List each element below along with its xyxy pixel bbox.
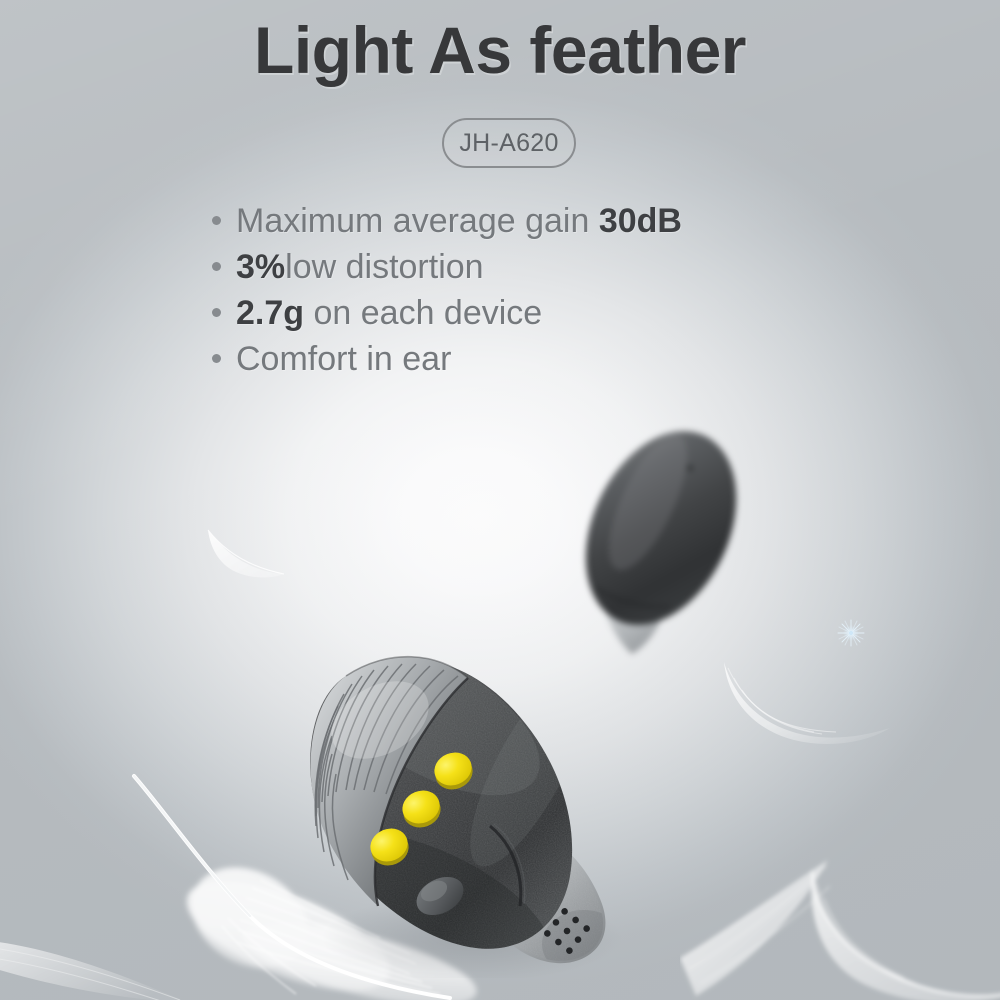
feature-emphasis: 30dB <box>599 202 682 240</box>
bullet-dot-icon <box>212 354 221 363</box>
list-item: 2.7g on each device <box>212 294 852 340</box>
feature-text: Comfort in ear <box>236 340 451 379</box>
feature-list: Maximum average gain 30dB 3%low distorti… <box>212 202 852 386</box>
earbud-back-unit <box>566 416 756 666</box>
bullet-dot-icon <box>212 216 221 225</box>
list-item: Maximum average gain 30dB <box>212 202 852 248</box>
page-title: Light As feather <box>0 12 1000 88</box>
bullet-dot-icon <box>212 262 221 271</box>
model-badge: JH-A620 <box>442 118 576 168</box>
model-badge-label: JH-A620 <box>459 129 558 158</box>
bullet-dot-icon <box>212 308 221 317</box>
sparkle-icon <box>836 618 866 648</box>
feature-suffix: low distortion <box>285 248 483 286</box>
list-item: Comfort in ear <box>212 340 852 386</box>
feature-text: 3%low distortion <box>236 248 484 287</box>
feature-emphasis: 2.7g <box>236 294 304 332</box>
feature-text: Maximum average gain 30dB <box>236 202 682 241</box>
earbud-front-unit <box>262 648 642 978</box>
feature-text: 2.7g on each device <box>236 294 542 333</box>
feature-prefix: Comfort in ear <box>236 340 451 378</box>
feature-suffix: on each device <box>304 294 542 332</box>
feature-emphasis: 3% <box>236 248 285 286</box>
list-item: 3%low distortion <box>212 248 852 294</box>
product-hero-image: Light As feather JH-A620 Maximum average… <box>0 0 1000 1000</box>
feature-prefix: Maximum average gain <box>236 202 599 240</box>
